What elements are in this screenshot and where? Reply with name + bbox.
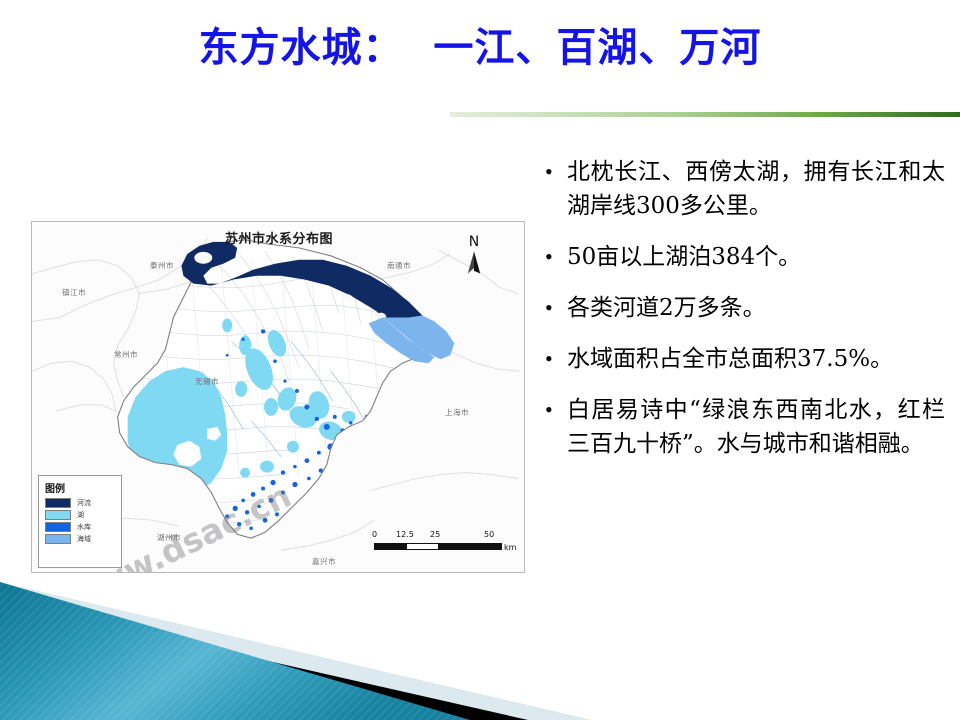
scalebar-tick-12.5: 12.5 (396, 530, 414, 539)
north-arrow: N (457, 234, 491, 286)
north-arrow-label: N (457, 234, 491, 250)
legend-label-reservoir: 水库 (77, 522, 91, 532)
legend-swatch-river (45, 498, 71, 508)
list-item: • 各类河道2万多条。 (545, 291, 945, 325)
city-label-taizhou: 泰州市 (150, 260, 174, 271)
scalebar-tick-25: 25 (430, 530, 440, 539)
legend-label-sea: 海域 (77, 534, 91, 544)
legend-label-lake: 湖 (77, 510, 84, 520)
legend-title: 图例 (45, 480, 117, 495)
city-label-huzhou: 湖州市 (157, 532, 181, 543)
legend-swatch-lake (45, 510, 71, 520)
title-divider-rule (450, 112, 960, 117)
list-item: • 北枕长江、西傍太湖，拥有长江和太湖岸线300多公里。 (545, 155, 945, 223)
legend-swatch-reservoir (45, 522, 71, 532)
legend-item-reservoir: 水库 (45, 522, 117, 532)
scalebar-tick-50: 50 (484, 530, 494, 539)
bullet-text: 水域面积占全市总面积37.5%。 (567, 342, 945, 376)
legend-label-river: 河流 (77, 498, 91, 508)
list-item: • 白居易诗中“绿浪东西南北水，红栏三百九十桥”。水与城市和谐相融。 (545, 393, 945, 461)
bullet-text: 白居易诗中“绿浪东西南北水，红栏三百九十桥”。水与城市和谐相融。 (567, 393, 945, 461)
bullet-text: 北枕长江、西傍太湖，拥有长江和太湖岸线300多公里。 (567, 155, 945, 223)
map-legend: 图例 河流 湖 水库 海域 (38, 475, 122, 568)
bullet-marker: • (545, 240, 567, 274)
legend-item-lake: 湖 (45, 510, 117, 520)
corner-decoration-graphic (0, 560, 960, 720)
city-label-jiaxing: 嘉兴市 (312, 556, 336, 567)
list-item: • 50亩以上湖泊384个。 (545, 240, 945, 274)
scalebar-unit: km (504, 543, 516, 552)
list-item: • 水域面积占全市总面积37.5%。 (545, 342, 945, 376)
city-label-zhenjiang: 镇江市 (62, 287, 86, 298)
bullet-text: 各类河道2万多条。 (567, 291, 945, 325)
page-title: 东方水城： 一江、百湖、万河 (0, 24, 960, 72)
bullet-marker: • (545, 393, 567, 427)
map-scalebar: 0 12.5 25 50 km (372, 530, 517, 560)
map-title: 苏州市水系分布图 (32, 228, 525, 247)
bullet-marker: • (545, 155, 567, 189)
map-figure[interactable]: 苏州市水系分布图 www.dsac.cn www.dsac.cn 镇江市 泰州市… (31, 221, 525, 573)
bullet-list: • 北枕长江、西傍太湖，拥有长江和太湖岸线300多公里。 • 50亩以上湖泊38… (545, 155, 945, 478)
bullet-text: 50亩以上湖泊384个。 (567, 240, 945, 274)
slide-canvas: 东方水城： 一江、百湖、万河 (0, 0, 960, 720)
bullet-marker: • (545, 342, 567, 376)
legend-item-sea: 海域 (45, 534, 117, 544)
north-arrow-glyph (457, 250, 491, 286)
legend-swatch-sea (45, 534, 71, 544)
bullet-marker: • (545, 291, 567, 325)
corner-decoration (0, 560, 960, 720)
city-label-wuxi: 无锡市 (195, 376, 219, 387)
city-label-shanghai: 上海市 (445, 407, 469, 418)
scalebar-track (374, 543, 502, 550)
city-label-changzhou: 常州市 (114, 349, 138, 360)
scalebar-tick-0: 0 (372, 530, 377, 539)
legend-item-river: 河流 (45, 498, 117, 508)
city-label-nantong: 南通市 (387, 260, 411, 271)
